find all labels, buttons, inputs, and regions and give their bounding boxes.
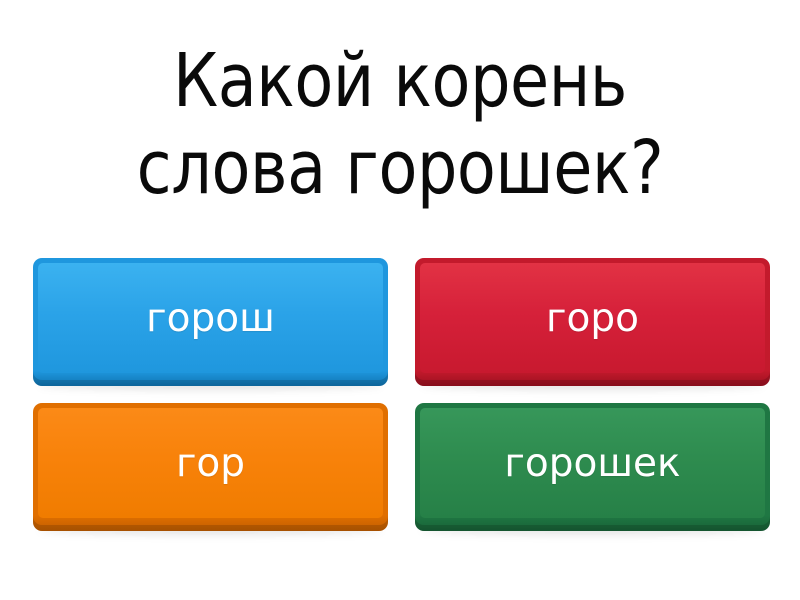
quiz-screen: Какой корень слова горошек? горош горо г… — [0, 0, 800, 600]
answer-option-4[interactable]: горошек — [415, 403, 770, 531]
answer-options-grid: горош горо гор горошек — [33, 258, 769, 530]
answer-option-3-face — [38, 408, 383, 518]
answer-option-4-face — [420, 408, 765, 518]
answer-option-1-face — [38, 263, 383, 373]
answer-option-3[interactable]: гор — [33, 403, 388, 531]
answer-option-2[interactable]: горо — [415, 258, 770, 386]
answer-option-2-face — [420, 263, 765, 373]
answer-option-1[interactable]: горош — [33, 258, 388, 386]
page-title: Какой корень слова горошек? — [56, 38, 744, 213]
